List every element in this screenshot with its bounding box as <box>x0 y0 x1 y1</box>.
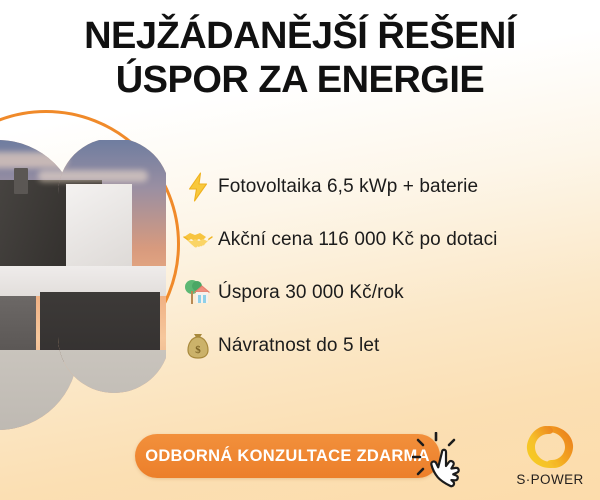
handshake-icon <box>178 223 218 257</box>
feature-label: Úspora 30 000 Kč/rok <box>218 282 404 304</box>
spower-wordmark: S·POWER <box>512 472 588 487</box>
headline-line-1: NEJŽÁDANĚJŠÍ ŘEŠENÍ <box>0 14 600 58</box>
spower-ring-icon <box>524 424 576 470</box>
house-photo-pill-right <box>58 138 170 393</box>
lightning-bolt-icon <box>178 170 218 204</box>
headline: NEJŽÁDANĚJŠÍ ŘEŠENÍ ÚSPOR ZA ENERGIE <box>0 14 600 102</box>
feature-item: Úspora 30 000 Kč/rok <box>178 266 498 319</box>
cta-button-odborna-konzultace-zdarma[interactable]: ODBORNÁ KONZULTACE ZDARMA <box>135 434 440 478</box>
feature-label: Fotovoltaika 6,5 kWp + baterie <box>218 176 478 198</box>
cta-button-label: ODBORNÁ KONZULTACE ZDARMA <box>145 447 430 466</box>
money-bag-icon: $ <box>178 329 218 363</box>
feature-item: $ Návratnost do 5 let <box>178 319 498 372</box>
feature-item: Fotovoltaika 6,5 kWp + baterie <box>178 160 498 213</box>
cloud-shape <box>58 152 68 168</box>
house-tree-icon <box>178 276 218 310</box>
feature-list: Fotovoltaika 6,5 kWp + baterie Akční cen… <box>178 160 498 372</box>
feature-item: Akční cena 116 000 Kč po dotaci <box>178 213 498 266</box>
promo-banner: NEJŽÁDANĚJŠÍ ŘEŠENÍ ÚSPOR ZA ENERGIE Fot… <box>0 0 600 500</box>
spower-logo[interactable]: S·POWER <box>512 424 588 492</box>
headline-line-2: ÚSPOR ZA ENERGIE <box>0 58 600 102</box>
house-with-solar-panels-photo <box>58 140 166 393</box>
feature-label: Akční cena 116 000 Kč po dotaci <box>218 229 498 251</box>
svg-text:$: $ <box>195 344 201 356</box>
cloud-shape <box>58 170 148 182</box>
feature-label: Návratnost do 5 let <box>218 335 379 357</box>
chimney-shape <box>14 168 28 194</box>
